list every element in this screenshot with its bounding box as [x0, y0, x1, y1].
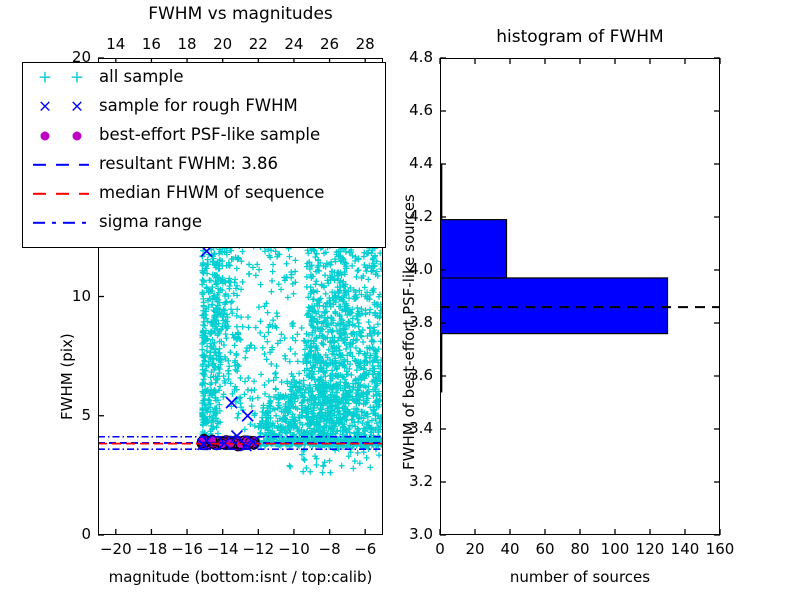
tick-label: 4.6: [409, 101, 433, 119]
dashed-line-icon: [33, 192, 89, 194]
plus-icon: +: [38, 69, 52, 86]
legend-item[interactable]: sigma range: [23, 208, 385, 237]
legend-item-label: best-effort PSF-like sample: [99, 127, 320, 144]
filled-circle-icon: [41, 131, 50, 140]
legend-item-label: sigma range: [99, 214, 202, 231]
tick-label: 120: [636, 540, 665, 558]
tick-label: 3.0: [409, 525, 433, 543]
filled-circle-icon: [73, 131, 82, 140]
right-yaxis-label: FWHM of best-effort PSF-like sources: [400, 194, 418, 470]
dashed-line-icon: [23, 179, 99, 208]
plus-icon: +: [70, 69, 84, 86]
right-xaxis-label: number of sources: [440, 568, 720, 586]
tick-label: 160: [706, 540, 735, 558]
tick-label: 4.8: [409, 48, 433, 66]
legend-item[interactable]: best-effort PSF-like sample: [23, 121, 385, 150]
tick-label: 140: [671, 540, 700, 558]
tick-label: 100: [601, 540, 630, 558]
dash-dot-line-icon: [23, 208, 99, 237]
dashed-line-icon: [23, 150, 99, 179]
legend[interactable]: ++all sample××sample for rough FWHMbest-…: [22, 62, 386, 248]
cross-icon: ×: [38, 98, 52, 115]
tick-label: 40: [500, 540, 519, 558]
legend-item-label: sample for rough FWHM: [99, 98, 298, 115]
legend-item[interactable]: resultant FWHM: 3.86: [23, 150, 385, 179]
tick-label: 3.2: [409, 472, 433, 490]
legend-item[interactable]: ××sample for rough FWHM: [23, 92, 385, 121]
legend-item-label: all sample: [99, 69, 184, 86]
tick-label: 60: [535, 540, 554, 558]
figure-canvas: FWHM vs magnitudes −20−18−16−14−12−10−8−…: [0, 0, 800, 600]
dashed-line-icon: [33, 163, 89, 165]
tick-label: 4.4: [409, 154, 433, 172]
cross-icon: ××: [23, 92, 99, 121]
tick-label: 0: [435, 540, 445, 558]
legend-item-label: median FHWM of sequence: [99, 185, 324, 202]
legend-item-label: resultant FWHM: 3.86: [99, 156, 278, 173]
cross-icon: ×: [70, 98, 84, 115]
legend-item[interactable]: median FHWM of sequence: [23, 179, 385, 208]
tick-label: 80: [570, 540, 589, 558]
plus-icon: ++: [23, 63, 99, 92]
legend-item[interactable]: ++all sample: [23, 63, 385, 92]
tick-label: 20: [465, 540, 484, 558]
filled-circle-icon: [23, 121, 99, 150]
dash-dot-line-icon: [33, 221, 89, 223]
